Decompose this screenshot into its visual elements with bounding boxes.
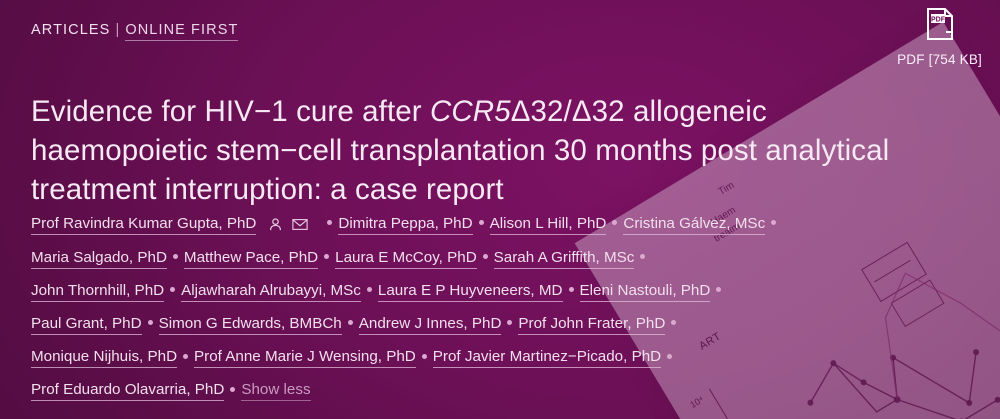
author-link[interactable]: Prof Eduardo Olavarria, PhD [31,381,224,401]
author-link[interactable]: Prof Ravindra Kumar Gupta, PhD [31,215,256,235]
author-separator-dot [569,287,574,292]
author-separator-dot [716,287,721,292]
author-separator-dot [612,220,617,225]
breadcrumb-separator: | [115,22,120,38]
author-link[interactable]: Matthew Pace, PhD [184,249,318,269]
author-link[interactable]: Cristina Gálvez, MSc [623,215,765,235]
author-separator-dot [507,320,512,325]
author-separator-dot [230,387,235,392]
author-separator-dot [671,320,676,325]
author-separator-dot [367,287,372,292]
author-separator-dot [148,320,153,325]
author-separator-dot [422,354,427,359]
author-link[interactable]: Dimitra Peppa, PhD [338,215,472,235]
breadcrumb-section[interactable]: ARTICLES [31,22,110,38]
author-link[interactable]: Eleni Nastouli, PhD [580,282,711,302]
envelope-icon [292,218,308,231]
author-link[interactable]: Prof Anne Marie J Wensing, PhD [194,348,416,368]
author-separator-dot [483,254,488,259]
author-link[interactable]: Aljawharah Alrubayyi, MSc [181,282,361,302]
author-separator-dot [170,287,175,292]
page-title: Evidence for HIV−1 cure after CCR5Δ32/Δ3… [31,92,921,209]
author-separator-dot [640,254,645,259]
author-separator-dot [327,220,332,225]
author-link[interactable]: Laura E McCoy, PhD [335,249,477,269]
author-link[interactable]: Andrew J Innes, PhD [359,315,502,335]
author-list: Prof Ravindra Kumar Gupta, PhDDimitra Pe… [31,207,911,407]
author-link[interactable]: John Thornhill, PhD [31,282,164,302]
author-separator-dot [173,254,178,259]
corresponding-author-icons [268,207,317,240]
author-separator-dot [771,220,776,225]
breadcrumb: ARTICLES|ONLINE FIRST [31,22,238,38]
author-link[interactable]: Sarah A Griffith, MSc [494,249,635,269]
author-link[interactable]: Monique Nijhuis, PhD [31,348,177,368]
author-separator-dot [324,254,329,259]
breadcrumb-subsection-link[interactable]: ONLINE FIRST [125,22,238,41]
author-link[interactable]: Prof Javier Martinez−Picado, PhD [433,348,661,368]
author-separator-dot [667,354,672,359]
author-link[interactable]: Alison L Hill, PhD [490,215,607,235]
show-less-button[interactable]: Show less [241,381,310,401]
person-icon [268,217,283,232]
pdf-size-label[interactable]: PDF [754 KB] [897,52,982,67]
pdf-file-icon[interactable]: PDF [897,8,982,45]
article-hero-banner: Tim Haem treatm ART HIV-1 DNA (copies pe… [0,0,1000,419]
author-link[interactable]: Maria Salgado, PhD [31,249,167,269]
author-link[interactable]: Laura E P Huyveneers, MD [378,282,563,302]
pdf-download[interactable]: PDF PDF [754 KB] [897,8,982,69]
author-separator-dot [479,220,484,225]
author-link[interactable]: Prof John Frater, PhD [518,315,665,335]
svg-text:PDF: PDF [931,17,946,24]
title-gene-name: CCR5 [430,95,511,128]
author-link[interactable]: Paul Grant, PhD [31,315,142,335]
title-text-part-1: Evidence for HIV−1 cure after [31,95,430,128]
author-link[interactable]: Simon G Edwards, BMBCh [159,315,342,335]
author-separator-dot [183,354,188,359]
author-separator-dot [348,320,353,325]
